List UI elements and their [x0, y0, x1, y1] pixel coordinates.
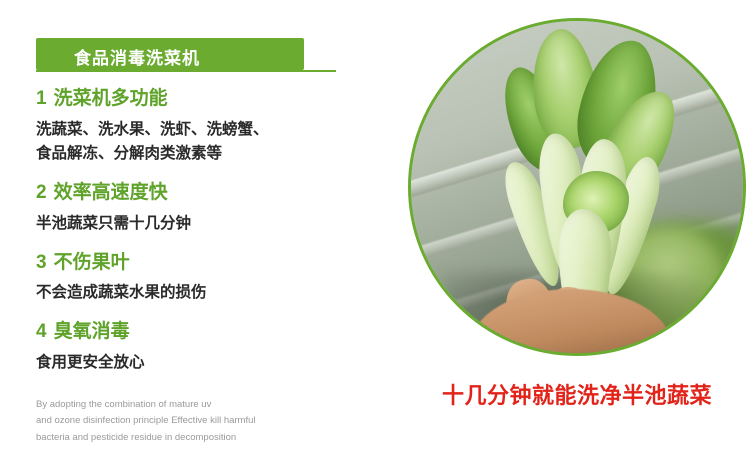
feature-body-line: 不会造成蔬菜水果的损伤 — [36, 281, 396, 305]
english-note: By adopting the combination of mature uv… — [36, 397, 276, 445]
left-content-column: 食品消毒洗菜机 1 洗菜机多功能 洗蔬菜、洗水果、洗虾、洗螃蟹、 食品解冻、分解… — [36, 38, 396, 446]
promo-page: 食品消毒洗菜机 1 洗菜机多功能 洗蔬菜、洗水果、洗虾、洗螃蟹、 食品解冻、分解… — [0, 0, 750, 470]
product-photo-circle — [408, 18, 746, 356]
feature-title-2: 效率高速度快 — [54, 182, 168, 205]
feature-heading-3: 3 不伤果叶 — [36, 252, 396, 275]
title-banner: 食品消毒洗菜机 — [36, 38, 304, 70]
feature-body-line: 半池蔬菜只需十几分钟 — [36, 212, 396, 236]
feature-title-3: 不伤果叶 — [54, 252, 130, 275]
feature-body-1: 洗蔬菜、洗水果、洗虾、洗螃蟹、 食品解冻、分解肉类激素等 — [36, 118, 396, 166]
feature-number-2: 2 — [36, 182, 47, 205]
feature-body-line: 食品解冻、分解肉类激素等 — [36, 142, 396, 166]
feature-heading-4: 4 臭氧消毒 — [36, 321, 396, 344]
english-note-line: bacteria and pesticide residue in decomp… — [36, 430, 276, 446]
feature-title-4: 臭氧消毒 — [54, 321, 130, 344]
feature-body-line: 食用更安全放心 — [36, 351, 396, 375]
photo-inner — [411, 21, 743, 353]
page-title: 食品消毒洗菜机 — [74, 44, 200, 69]
feature-section-2: 2 效率高速度快 半池蔬菜只需十几分钟 — [36, 182, 396, 236]
feature-body-3: 不会造成蔬菜水果的损伤 — [36, 281, 396, 305]
feature-section-1: 1 洗菜机多功能 洗蔬菜、洗水果、洗虾、洗螃蟹、 食品解冻、分解肉类激素等 — [36, 88, 396, 166]
feature-heading-1: 1 洗菜机多功能 — [36, 88, 396, 111]
feature-heading-2: 2 效率高速度快 — [36, 182, 396, 205]
feature-title-1: 洗菜机多功能 — [54, 88, 168, 111]
feature-body-2: 半池蔬菜只需十几分钟 — [36, 212, 396, 236]
photo-caption: 十几分钟就能洗净半池蔬菜 — [412, 378, 742, 410]
feature-body-4: 食用更安全放心 — [36, 351, 396, 375]
feature-section-3: 3 不伤果叶 不会造成蔬菜水果的损伤 — [36, 252, 396, 306]
title-underline — [36, 70, 336, 72]
english-note-line: and ozone disinfection principle Effecti… — [36, 413, 276, 429]
feature-section-4: 4 臭氧消毒 食用更安全放心 — [36, 321, 396, 375]
feature-number-4: 4 — [36, 321, 47, 344]
english-note-line: By adopting the combination of mature uv — [36, 397, 276, 413]
feature-number-1: 1 — [36, 88, 47, 111]
feature-body-line: 洗蔬菜、洗水果、洗虾、洗螃蟹、 — [36, 118, 396, 142]
feature-number-3: 3 — [36, 252, 47, 275]
